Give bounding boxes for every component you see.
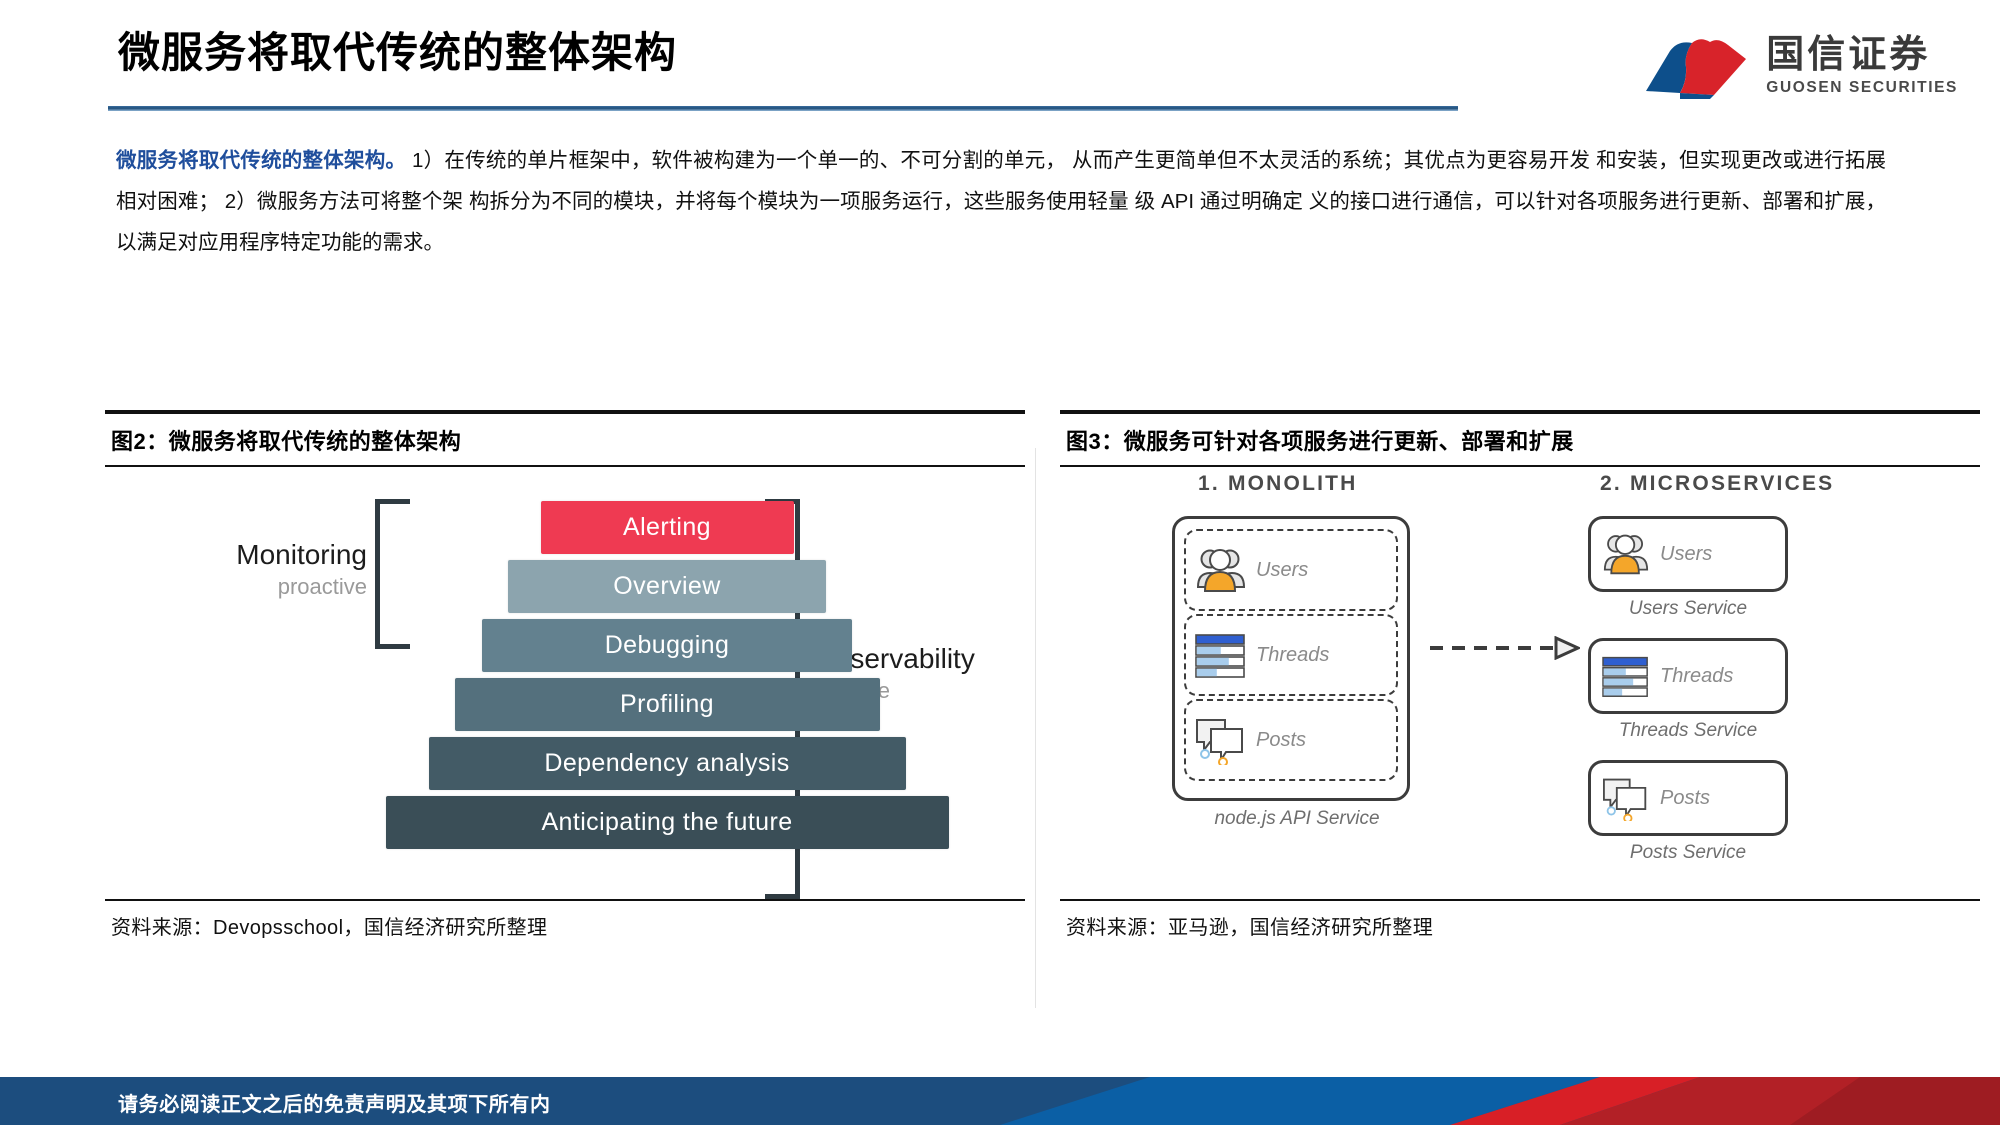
module-label: Posts <box>1256 729 1306 752</box>
logo-mark-icon <box>1640 33 1752 99</box>
logo-english-name: GUOSEN SECURITIES <box>1766 80 1958 96</box>
guosen-securities-logo: 国信证券 GUOSEN SECURITIES <box>1640 28 1958 104</box>
service-card-threads: Threads <box>1588 638 1788 714</box>
service-label: Users <box>1660 543 1712 566</box>
pyramid-bar: Profiling <box>455 678 880 731</box>
list-rows-icon <box>1601 653 1651 699</box>
exhibit-2-figure: Monitoring proactive Observability react… <box>105 467 1025 899</box>
monolith-vs-microservices-diagram: 1. MONOLITH 2. MICROSERVICES Users <box>1080 468 1960 898</box>
speech-bubbles-icon <box>1601 775 1651 821</box>
transform-arrow-icon <box>1430 636 1580 660</box>
list-rows-icon <box>1194 630 1248 680</box>
pyramid-bar: Anticipating the future <box>386 796 949 849</box>
monolith-module: Posts <box>1184 699 1398 781</box>
panel-divider <box>1035 448 1036 1008</box>
users-group-icon <box>1194 545 1248 595</box>
service-caption-users: Users Service <box>1578 598 1798 620</box>
pyramid-bar: Debugging <box>482 619 852 672</box>
pyramid-bar: Alerting <box>541 501 794 554</box>
exhibit-2-title: 图2：微服务将取代传统的整体架构 <box>105 414 1025 465</box>
service-caption-threads: Threads Service <box>1578 720 1798 742</box>
service-label: Posts <box>1660 787 1710 810</box>
page-footer: 请务必阅读正文之后的免责声明及其项下所有内 <box>0 1077 2000 1125</box>
module-label: Users <box>1256 559 1308 582</box>
footer-disclaimer: 请务必阅读正文之后的免责声明及其项下所有内 <box>118 1088 551 1117</box>
monolith-module: Threads <box>1184 614 1398 696</box>
exhibit-3-source: 资料来源：亚马逊，国信经济研究所整理 <box>1060 901 1980 940</box>
service-card-users: Users <box>1588 516 1788 592</box>
pyramid-bar: Dependency analysis <box>429 737 906 790</box>
speech-bubbles-icon <box>1194 715 1248 765</box>
page-title: 微服务将取代传统的整体架构 <box>118 28 898 78</box>
monolith-caption: node.js API Service <box>1172 808 1422 830</box>
monitoring-bracket-icon <box>375 499 410 649</box>
exhibit-2-panel: 图2：微服务将取代传统的整体架构 Monitoring proactive Ob… <box>105 410 1025 1020</box>
pyramid-bar: Overview <box>508 560 826 613</box>
module-label: Threads <box>1256 644 1329 667</box>
exhibit-3-title: 图3：微服务可针对各项服务进行更新、部署和扩展 <box>1060 414 1980 465</box>
observability-pyramid-chart: Monitoring proactive Observability react… <box>125 471 1005 896</box>
monolith-module: Users <box>1184 529 1398 611</box>
monitoring-label-main: Monitoring <box>197 539 367 571</box>
monitoring-group-label: Monitoring proactive <box>197 539 367 602</box>
service-label: Threads <box>1660 665 1733 688</box>
exhibit-3-panel: 图3：微服务可针对各项服务进行更新、部署和扩展 1. MONOLITH 2. M… <box>1060 410 1980 1020</box>
lead-paragraph: 微服务将取代传统的整体架构。 1）在传统的单片框架中，软件被构建为一个单一的、不… <box>116 140 1886 263</box>
monitoring-label-sub: proactive <box>197 573 367 602</box>
title-divider-rule <box>108 106 1458 111</box>
monolith-container: Users Threads <box>1172 516 1410 801</box>
service-card-posts: Posts <box>1588 760 1788 836</box>
exhibit-2-source: 资料来源：Devopsschool，国信经济研究所整理 <box>105 901 1025 940</box>
service-caption-posts: Posts Service <box>1578 842 1798 864</box>
users-group-icon <box>1601 531 1651 577</box>
lead-highlight: 微服务将取代传统的整体架构。 <box>116 149 406 172</box>
exhibit-3-figure: 1. MONOLITH 2. MICROSERVICES Users <box>1060 467 1980 899</box>
logo-chinese-name: 国信证券 <box>1766 36 1958 74</box>
monolith-heading: 1. MONOLITH <box>1198 472 1358 496</box>
microservices-heading: 2. MICROSERVICES <box>1600 472 1834 496</box>
